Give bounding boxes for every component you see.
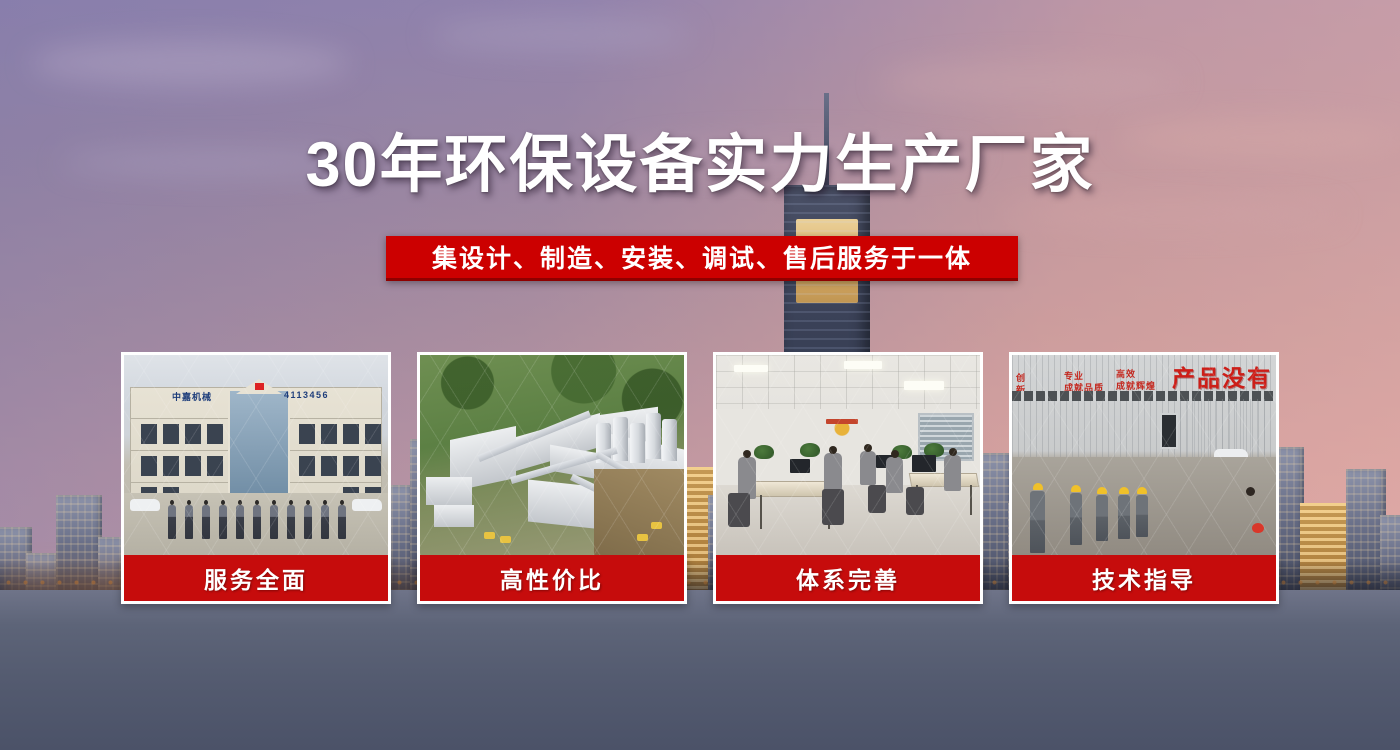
tagline-text: 集设计、制造、安装、调试、售后服务于一体: [432, 239, 972, 275]
card-caption: 体系完善: [713, 555, 983, 604]
factory-slogan-3: 高效成就辉煌: [1116, 369, 1156, 392]
factory-slogan-main: 产品没有: [1172, 359, 1272, 393]
feature-card[interactable]: 中嘉机械 4113456 服务全面: [121, 352, 391, 604]
card-thumbnail-workers-factory: 产品没有 创新 专业成就品质 高效成就辉煌: [1009, 352, 1279, 555]
tagline-banner: 集设计、制造、安装、调试、售后服务于一体: [386, 236, 1018, 281]
card-caption-text: 技术指导: [1092, 561, 1196, 595]
card-thumbnail-office-interior: [713, 352, 983, 555]
card-thumbnail-plant-aerial: [417, 352, 687, 555]
card-caption: 服务全面: [121, 555, 391, 604]
card-thumbnail-office-building: 中嘉机械 4113456: [121, 352, 391, 555]
card-caption: 技术指导: [1009, 555, 1279, 604]
building-sign-text: 中嘉机械: [172, 390, 212, 403]
card-caption-text: 体系完善: [796, 561, 900, 595]
promo-banner: 30年环保设备实力生产厂家 集设计、制造、安装、调试、售后服务于一体: [0, 0, 1400, 750]
feature-card[interactable]: 体系完善: [713, 352, 983, 604]
card-caption: 高性价比: [417, 555, 687, 604]
feature-card[interactable]: 高性价比: [417, 352, 687, 604]
card-caption-text: 服务全面: [204, 561, 308, 595]
building-phone-text: 4113456: [284, 390, 329, 400]
wall-logo-icon: [824, 417, 860, 445]
feature-card-list: 中嘉机械 4113456 服务全面: [121, 352, 1279, 604]
page-title: 30年环保设备实力生产厂家: [0, 132, 1400, 198]
feature-card[interactable]: 产品没有 创新 专业成就品质 高效成就辉煌 技术指导: [1009, 352, 1279, 604]
card-caption-text: 高性价比: [500, 561, 604, 595]
river-water: [0, 590, 1400, 750]
